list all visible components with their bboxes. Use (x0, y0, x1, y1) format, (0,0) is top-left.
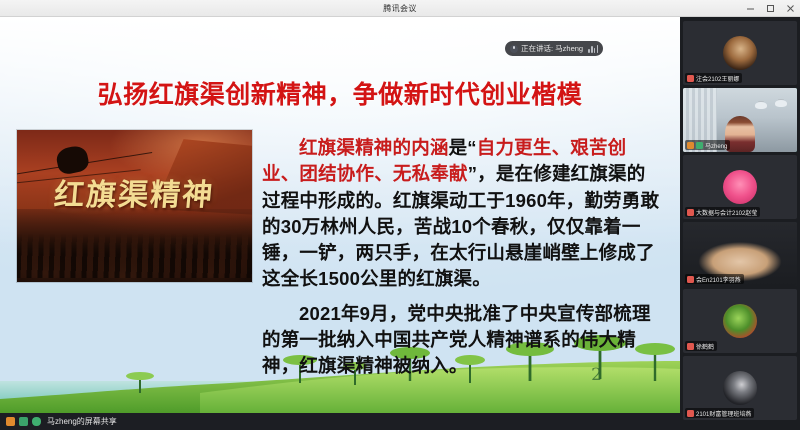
participant-tile[interactable]: 徐鹤鹤 (683, 289, 797, 353)
avatar (723, 36, 757, 70)
video-lamp (755, 102, 767, 109)
speaking-indicator: 正在讲话: 马zheng (505, 41, 603, 56)
microphone-icon (696, 142, 703, 149)
paragraph-1-segment-0: 红旗渠精神的内涵 (299, 137, 449, 158)
host-icon (6, 417, 15, 426)
avatar (723, 170, 757, 204)
video-lamp (775, 100, 787, 107)
slide-title: 弘扬红旗渠创新精神，争做新时代创业楷模 (0, 75, 680, 111)
meeting-stage: 弘扬红旗渠创新精神，争做新时代创业楷模 红旗渠精神 红旗渠精神的内涵是“自力更生… (0, 17, 800, 430)
screen-share-status-bar: 马zheng的屏幕共享 (0, 413, 680, 430)
host-icon (687, 410, 694, 417)
participant-tile[interactable]: 2101财富管理班培燕 (683, 356, 797, 420)
microphone-icon (32, 417, 41, 426)
slide-body-text: 红旗渠精神的内涵是“自力更生、艰苦创业、团结协作、无私奉献”，是在修建红旗渠的过… (262, 135, 660, 379)
image-crowd (17, 209, 252, 282)
window-title-bar: 腾讯会议 (0, 0, 800, 17)
microphone-icon (510, 45, 518, 53)
slide-page-number: 2 (591, 365, 602, 385)
slide-paragraph-1: 红旗渠精神的内涵是“自力更生、艰苦创业、团结协作、无私奉献”，是在修建红旗渠的过… (262, 135, 660, 293)
participant-filmstrip[interactable]: 注会2102王丽娜 马zheng 大数据与会计2102赵莹 (680, 17, 800, 430)
window-controls (745, 0, 796, 17)
participant-name: 马zheng (705, 141, 727, 150)
participant-name: 注会2102王丽娜 (696, 74, 739, 83)
audio-wave-icon (588, 45, 598, 53)
participant-name: 大数据与会计2102赵莹 (696, 208, 757, 217)
slide-image-caption: 红旗渠精神 (17, 170, 252, 214)
screen-share-icon (687, 142, 694, 149)
participant-tile[interactable]: 马zheng (683, 88, 797, 152)
close-icon[interactable] (785, 3, 796, 14)
speaking-indicator-label: 正在讲话: 马zheng (521, 43, 583, 54)
paragraph-1-segment-1: 是“ (449, 137, 477, 158)
screen-share-icon (19, 417, 28, 426)
participant-name: 2101财富管理班培燕 (696, 409, 751, 418)
participant-label: 马zheng (685, 140, 730, 150)
host-icon (687, 276, 694, 283)
app-title: 腾讯会议 (383, 3, 417, 14)
participant-tile[interactable]: 会En2101李羽燕 (683, 222, 797, 286)
participant-name: 会En2101李羽燕 (696, 275, 741, 284)
participant-tile[interactable]: 大数据与会计2102赵莹 (683, 155, 797, 219)
participant-label: 会En2101李羽燕 (685, 274, 744, 284)
screen-share-label: 马zheng的屏幕共享 (47, 416, 117, 427)
host-icon (687, 209, 694, 216)
participant-label: 2101财富管理班培燕 (685, 408, 754, 418)
participant-label: 徐鹤鹤 (685, 341, 717, 351)
participant-label: 大数据与会计2102赵莹 (685, 207, 760, 217)
presentation-slide: 弘扬红旗渠创新精神，争做新时代创业楷模 红旗渠精神 红旗渠精神的内涵是“自力更生… (0, 17, 680, 413)
participant-label: 注会2102王丽娜 (685, 73, 742, 83)
avatar (723, 304, 757, 338)
participant-name: 徐鹤鹤 (696, 342, 714, 351)
host-icon (687, 343, 694, 350)
maximize-icon[interactable] (765, 3, 776, 14)
minimize-icon[interactable] (745, 3, 756, 14)
shared-screen-area[interactable]: 弘扬红旗渠创新精神，争做新时代创业楷模 红旗渠精神 红旗渠精神的内涵是“自力更生… (0, 17, 680, 413)
slide-image-red-flag-canal: 红旗渠精神 (17, 130, 252, 282)
host-icon (687, 75, 694, 82)
participant-tile[interactable]: 注会2102王丽娜 (683, 21, 797, 85)
avatar (723, 371, 757, 405)
